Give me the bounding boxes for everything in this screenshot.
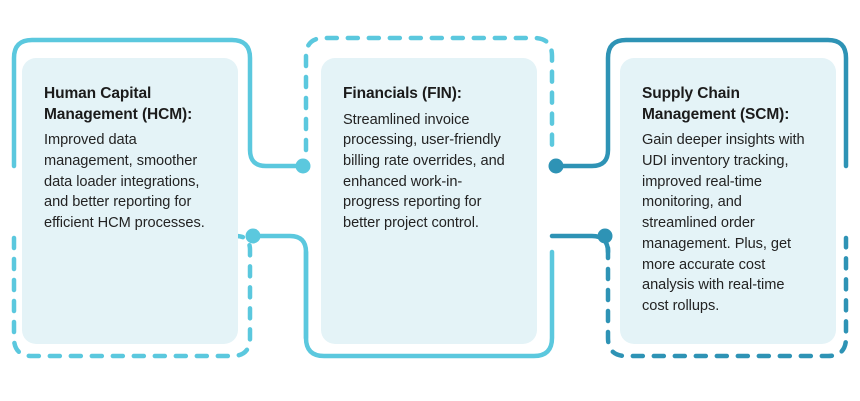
fin-to-hcm-lower-line: [255, 236, 306, 338]
fin-to-hcm-dot: [246, 229, 261, 244]
card-hcm-body: Improved data management, smoother data …: [44, 130, 216, 234]
card-scm-title: Supply Chain Management (SCM):: [642, 84, 814, 125]
card-scm-body: Gain deeper insights with UDI inventory …: [642, 130, 814, 316]
card-hcm-title: Human Capital Management (HCM):: [44, 84, 216, 125]
diagram-canvas: Human Capital Management (HCM): Improved…: [0, 0, 860, 401]
scm-to-fin-dot: [598, 229, 613, 244]
card-hcm[interactable]: Human Capital Management (HCM): Improved…: [22, 58, 238, 344]
fin-to-scm-dot: [549, 159, 564, 174]
hcm-to-fin-dot: [296, 159, 311, 174]
scm-to-fin-lower-line: [552, 236, 608, 252]
card-fin-title: Financials (FIN):: [343, 84, 515, 105]
card-scm[interactable]: Supply Chain Management (SCM): Gain deep…: [620, 58, 836, 344]
card-fin[interactable]: Financials (FIN): Streamlined invoice pr…: [321, 58, 537, 344]
card-fin-body: Streamlined invoice processing, user-fri…: [343, 110, 515, 234]
